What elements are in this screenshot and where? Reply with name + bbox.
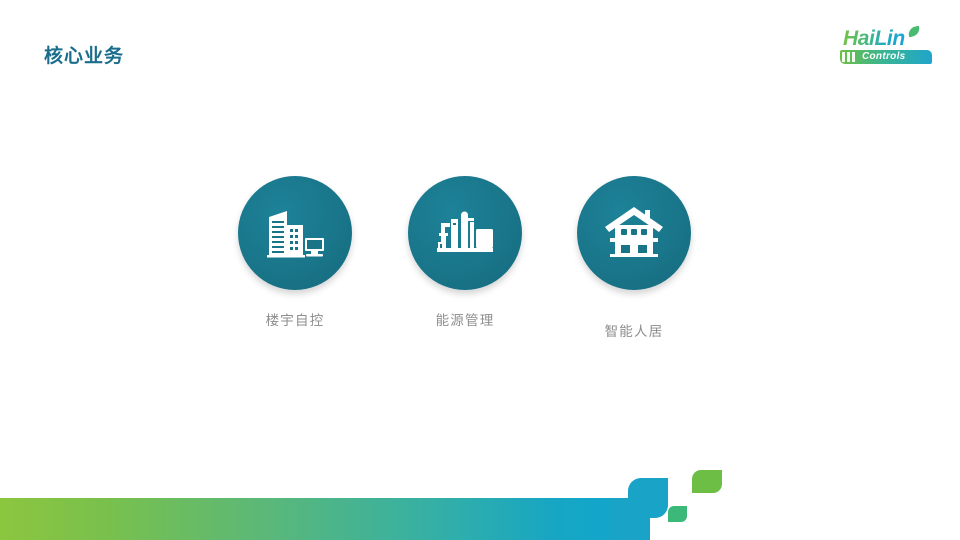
slide-canvas: 核心业务 HaiLin Controls	[0, 0, 960, 540]
office-building-with-monitor-icon	[265, 205, 325, 261]
blue-leaf-icon	[628, 478, 668, 518]
icon-disc[interactable]	[238, 176, 352, 290]
green-leaf-large-icon	[692, 470, 722, 493]
icon-disc[interactable]	[408, 176, 522, 290]
house-icon	[603, 205, 665, 261]
green-leaf-small-icon	[668, 506, 687, 522]
core-business-item-building[interactable]: 楼宇自控	[225, 176, 365, 329]
icon-disc[interactable]	[577, 176, 691, 290]
core-business-item-home[interactable]: 智能人居	[564, 176, 704, 340]
core-business-items: 楼宇自控	[0, 0, 960, 540]
bottom-gradient-bar	[0, 498, 629, 540]
industrial-plant-icon	[435, 205, 495, 261]
core-business-item-energy[interactable]: 能源管理	[395, 176, 535, 329]
core-business-item-label: 智能人居	[564, 320, 704, 340]
core-business-item-label: 楼宇自控	[225, 309, 365, 329]
core-business-item-label: 能源管理	[395, 309, 535, 329]
